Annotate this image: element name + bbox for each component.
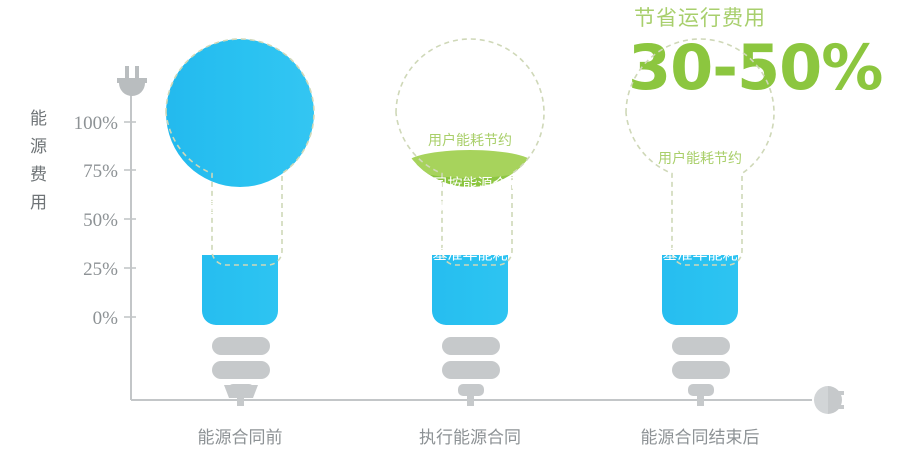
bulb-top-label: 用户能耗节约 bbox=[658, 150, 742, 166]
y-axis-title-char: 用 bbox=[30, 193, 47, 212]
bulb-base bbox=[442, 337, 500, 406]
segment-label-baseline: 基准年能耗 bbox=[202, 199, 277, 216]
power-plug-icon bbox=[117, 66, 147, 96]
bulb-fill bbox=[160, 38, 322, 328]
segment-label-baseline: 基准年能耗 bbox=[432, 246, 507, 263]
segment-baseline bbox=[160, 38, 322, 328]
bulb-before-contract[interactable]: 基准年能耗 bbox=[160, 38, 322, 406]
y-tick-label: 100% bbox=[74, 113, 119, 134]
y-tick-label: 75% bbox=[83, 161, 118, 182]
category-label-before: 能源合同前 bbox=[198, 428, 283, 447]
headline-subtitle: 节省运行费用 bbox=[634, 7, 766, 30]
bulb-base bbox=[212, 337, 270, 406]
infographic-canvas: 节省运行费用 30-50% bbox=[0, 0, 900, 473]
headline-value: 30-50% bbox=[628, 31, 882, 104]
segment-baseline bbox=[620, 219, 782, 331]
cyan-surface-ellipse bbox=[630, 204, 770, 234]
segment-label-investment-line1: 公司按能源合同 bbox=[417, 176, 522, 193]
y-tick-label: 50% bbox=[83, 210, 118, 231]
green-surface-ellipse bbox=[406, 150, 534, 178]
bulb-fill bbox=[620, 204, 782, 331]
bulb-base bbox=[672, 337, 730, 406]
bulb-during-contract[interactable]: 用户能耗节约 公司按能源合同 收回投资 基准年能耗 bbox=[390, 39, 552, 406]
y-tick-label: 25% bbox=[83, 259, 118, 280]
segment-label-investment-line2: 收回投资 bbox=[440, 199, 500, 216]
category-label-during: 执行能源合同 bbox=[419, 428, 521, 447]
y-axis-title-char: 能 bbox=[30, 109, 47, 128]
segment-baseline bbox=[390, 219, 552, 331]
segment-label-baseline: 基准年能耗 bbox=[662, 246, 737, 263]
y-axis-title-char: 费 bbox=[30, 165, 47, 184]
y-axis-title: 能 源 费 用 bbox=[30, 109, 47, 212]
y-axis-ticks: 100% 75% 50% 25% 0% bbox=[74, 113, 136, 329]
bulb-top-label: 用户能耗节约 bbox=[428, 132, 512, 148]
category-label-after: 能源合同结束后 bbox=[641, 428, 760, 447]
energy-contract-chart: 节省运行费用 30-50% bbox=[0, 0, 900, 473]
x-axis-category-labels: 能源合同前 执行能源合同 能源合同结束后 bbox=[198, 428, 760, 447]
y-axis-title-char: 源 bbox=[30, 137, 47, 156]
y-tick-label: 0% bbox=[93, 308, 119, 329]
power-socket-icon bbox=[814, 386, 844, 414]
headline-group: 节省运行费用 30-50% bbox=[628, 7, 882, 104]
